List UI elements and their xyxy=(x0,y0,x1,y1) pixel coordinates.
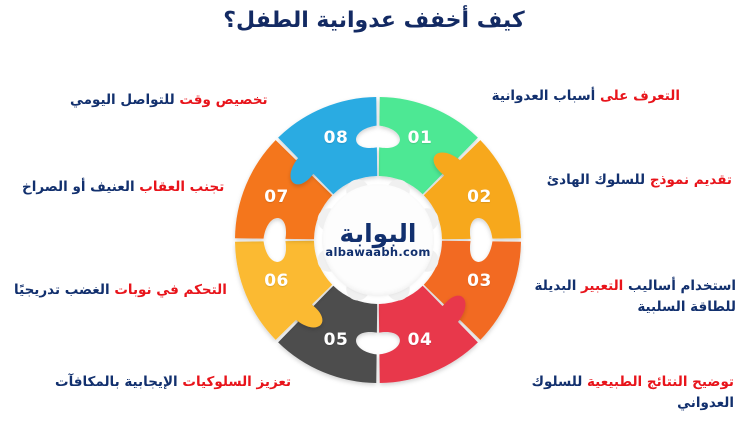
label-03-highlight: التعبير xyxy=(581,278,623,294)
label-06-rest: الغضب تدريجيًا xyxy=(14,282,110,298)
puzzle-segment-08[interactable] xyxy=(278,97,377,194)
label-01-highlight: التعرف على xyxy=(600,88,680,104)
logo-arabic-text: البوابة xyxy=(340,221,417,246)
label-04-line2: العدواني xyxy=(677,395,734,411)
page-title: كيف أخفف عدوانية الطفل؟ xyxy=(0,8,748,33)
puzzle-segment-06[interactable] xyxy=(235,241,332,340)
label-03: استخدام أساليب التعبير البديلة للطاقة ال… xyxy=(506,276,736,318)
label-08-rest: للتواصل اليومي xyxy=(70,92,175,108)
label-03-rest-before: استخدام أساليب xyxy=(628,278,736,294)
label-05-highlight: تعزيز السلوكيات xyxy=(182,374,291,390)
label-04-highlight: توضيح النتائج الطبيعية xyxy=(587,374,734,390)
label-07-rest: العنيف أو الصراخ xyxy=(22,179,135,195)
label-07: تجنب العقاب العنيف أو الصراخ xyxy=(22,177,224,198)
label-02: تقديم نموذج للسلوك الهادئ xyxy=(547,170,732,191)
logo-latin-text: albawaabh.com xyxy=(325,247,430,259)
label-08: تخصيص وقت للتواصل اليومي xyxy=(70,90,268,111)
label-02-highlight: تقديم نموذج xyxy=(650,172,732,188)
label-05-rest: الإيجابية بالمكافآت xyxy=(55,374,178,390)
label-04-rest: للسلوك xyxy=(532,374,583,390)
label-06-highlight: التحكم في نوبات xyxy=(114,282,227,298)
label-04: توضيح النتائج الطبيعية للسلوك العدواني xyxy=(499,372,734,414)
puzzle-segment-04[interactable] xyxy=(379,286,478,383)
label-01: التعرف على أسباب العدوانية xyxy=(492,86,680,107)
label-03-rest-after: البديلة xyxy=(535,278,577,294)
puzzle-segment-02[interactable] xyxy=(424,140,521,239)
label-01-rest: أسباب العدوانية xyxy=(492,88,596,104)
puzzle-wheel: 0102030405060708 البوابة albawaabh.com xyxy=(234,96,522,384)
label-03-line2: للطاقة السلبية xyxy=(637,299,736,315)
label-05: تعزيز السلوكيات الإيجابية بالمكافآت xyxy=(55,372,291,393)
center-logo: البوابة albawaabh.com xyxy=(322,184,434,296)
label-07-highlight: تجنب العقاب xyxy=(139,179,224,195)
label-06: التحكم في نوبات الغضب تدريجيًا xyxy=(14,280,227,301)
label-08-highlight: تخصيص وقت xyxy=(179,92,267,108)
label-02-rest: للسلوك الهادئ xyxy=(547,172,645,188)
infographic-root: كيف أخفف عدوانية الطفل؟ 0102030405060708… xyxy=(0,0,748,432)
